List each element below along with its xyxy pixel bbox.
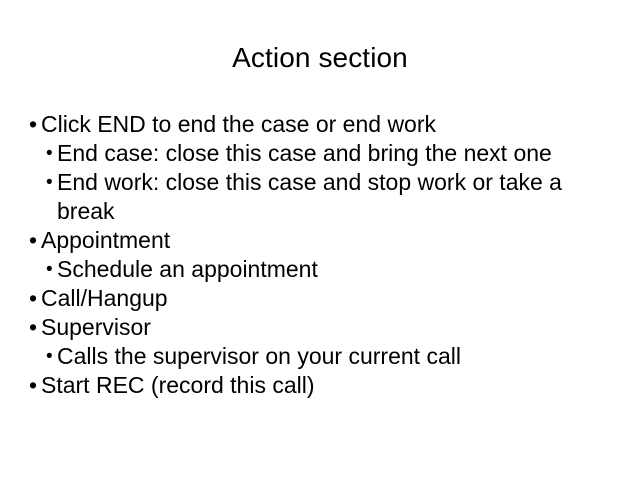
bullet-item-level1: •Start REC (record this call) xyxy=(28,371,613,400)
bullet-item-label: Click END to end the case or end work xyxy=(41,111,436,137)
presentation-slide: Action section •Click END to end the cas… xyxy=(0,0,640,480)
bullet-item-label: Appointment xyxy=(41,227,170,253)
bullet-item-level1: •Call/Hangup xyxy=(28,284,613,313)
bullet-dot-icon: • xyxy=(46,255,53,285)
bullet-item-label: Call/Hangup xyxy=(41,285,168,311)
bullet-list: •Click END to end the case or end work•E… xyxy=(28,110,613,400)
page-title: Action section xyxy=(0,41,640,75)
bullet-dot-icon: • xyxy=(46,139,53,169)
bullet-dot-icon: • xyxy=(29,226,37,255)
bullet-item-level1: •Appointment xyxy=(28,226,613,255)
bullet-item-label: End case: close this case and bring the … xyxy=(57,140,552,166)
bullet-item-level2: •Calls the supervisor on your current ca… xyxy=(28,342,613,371)
bullet-dot-icon: • xyxy=(29,313,37,342)
bullet-dot-icon: • xyxy=(29,371,37,400)
bullet-item-label: Start REC (record this call) xyxy=(41,372,315,398)
bullet-item-label: End work: close this case and stop work … xyxy=(57,169,562,224)
bullet-dot-icon: • xyxy=(29,284,37,313)
bullet-item-label: Supervisor xyxy=(41,314,151,340)
bullet-dot-icon: • xyxy=(29,110,37,139)
bullet-item-level2: •Schedule an appointment xyxy=(28,255,613,284)
bullet-dot-icon: • xyxy=(46,342,53,372)
bullet-item-level1: •Click END to end the case or end work xyxy=(28,110,613,139)
bullet-item-level2: •End case: close this case and bring the… xyxy=(28,139,613,168)
bullet-dot-icon: • xyxy=(46,168,53,198)
bullet-item-label: Calls the supervisor on your current cal… xyxy=(57,343,461,369)
bullet-item-label: Schedule an appointment xyxy=(57,256,318,282)
bullet-item-level2: •End work: close this case and stop work… xyxy=(28,168,613,226)
bullet-item-level1: •Supervisor xyxy=(28,313,613,342)
